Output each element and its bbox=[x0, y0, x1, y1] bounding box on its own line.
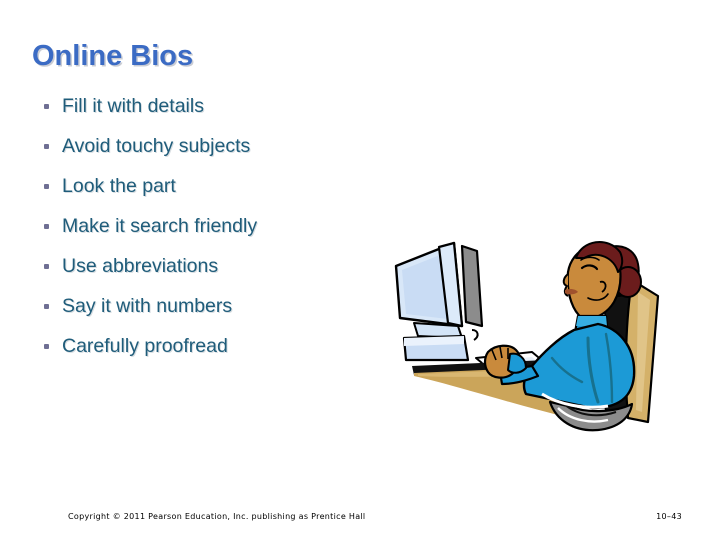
bullet-marker-icon bbox=[44, 184, 49, 189]
bullet-marker-icon bbox=[44, 264, 49, 269]
list-item-label: Use abbreviations bbox=[62, 255, 218, 277]
list-item-label: Fill it with details bbox=[62, 95, 204, 117]
slide-canvas: Online Bios Fill it with details Avoid t… bbox=[0, 0, 720, 540]
list-item: Avoid touchy subjects bbox=[40, 126, 400, 166]
list-item: Fill it with details bbox=[40, 86, 400, 126]
page-title: Online Bios bbox=[32, 40, 193, 73]
list-item: Carefully proofread bbox=[40, 326, 400, 366]
list-item: Look the part bbox=[40, 166, 400, 206]
list-item-label: Avoid touchy subjects bbox=[62, 135, 250, 157]
bullet-marker-icon bbox=[44, 304, 49, 309]
bullet-list: Fill it with details Avoid touchy subjec… bbox=[40, 86, 400, 366]
list-item-label: Say it with numbers bbox=[62, 295, 232, 317]
bullet-marker-icon bbox=[44, 224, 49, 229]
list-item-label: Carefully proofread bbox=[62, 335, 228, 357]
woman-at-computer-clipart bbox=[392, 226, 684, 446]
list-item-label: Make it search friendly bbox=[62, 215, 257, 237]
bullet-marker-icon bbox=[44, 144, 49, 149]
bullet-marker-icon bbox=[44, 104, 49, 109]
footer-page-number: 10–43 bbox=[656, 512, 682, 521]
list-item: Use abbreviations bbox=[40, 246, 400, 286]
list-item: Make it search friendly bbox=[40, 206, 400, 246]
list-item-label: Look the part bbox=[62, 175, 176, 197]
footer-copyright: Copyright © 2011 Pearson Education, Inc.… bbox=[68, 512, 365, 521]
list-item: Say it with numbers bbox=[40, 286, 400, 326]
bullet-marker-icon bbox=[44, 344, 49, 349]
